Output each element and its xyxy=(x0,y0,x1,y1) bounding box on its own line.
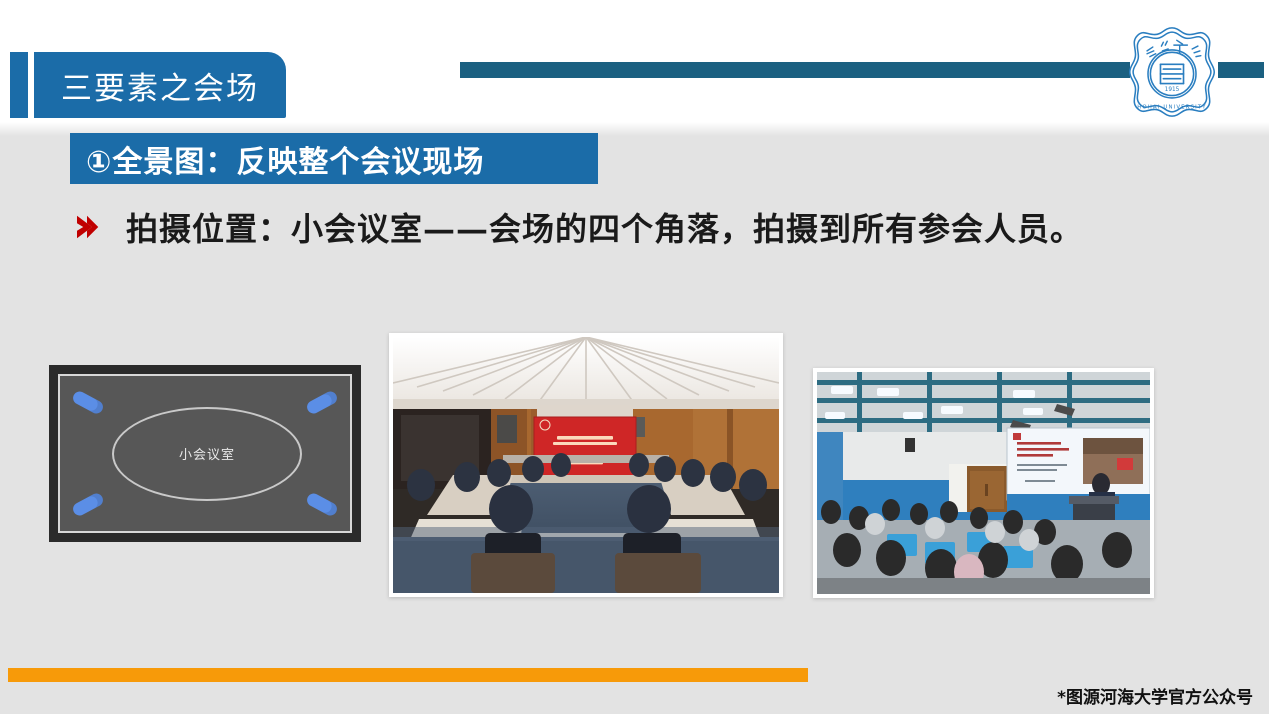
header-rule-left xyxy=(460,62,1130,78)
camera-icon-bottom-right xyxy=(305,491,339,518)
svg-text:HOHAI UNIVERSITY: HOHAI UNIVERSITY xyxy=(1137,104,1206,110)
meeting-room-camera-position-diagram: 小会议室 xyxy=(49,365,361,542)
diagram-room-label: 小会议室 xyxy=(179,444,235,463)
diagram-room-ellipse: 小会议室 xyxy=(112,407,302,501)
footer-accent-bar xyxy=(8,668,808,682)
page-title-text: 三要素之会场 xyxy=(61,63,259,108)
slide: 三要素之会场 xyxy=(0,0,1269,714)
footer-credit: *图源河海大学官方公众号 xyxy=(1057,683,1253,708)
camera-icon-top-right xyxy=(305,389,339,416)
hohai-university-logo: 1915 HOHAI UNIVERSITY xyxy=(1124,24,1220,120)
bullet-row: 拍摄位置：小会议室——会场的四个角落，拍摄到所有参会人员。 xyxy=(70,198,1240,256)
diagram-room: 小会议室 xyxy=(58,374,352,533)
camera-icon-top-left xyxy=(71,389,105,416)
camera-icon-bottom-left xyxy=(71,491,105,518)
photo-small-conference-room xyxy=(389,333,783,597)
red-chevron-icon xyxy=(70,210,104,244)
page-title: 三要素之会场 xyxy=(34,52,286,118)
photo-lecture-hall xyxy=(813,368,1154,598)
title-accent-tab xyxy=(10,52,28,118)
section-subtitle-banner: ①全景图：反映整个会议现场 xyxy=(70,133,598,184)
bullet-text: 拍摄位置：小会议室——会场的四个角落，拍摄到所有参会人员。 xyxy=(126,204,1083,250)
section-subtitle-text: ①全景图：反映整个会议现场 xyxy=(86,137,484,181)
header-rule-right xyxy=(1218,62,1264,78)
svg-text:1915: 1915 xyxy=(1165,87,1180,93)
